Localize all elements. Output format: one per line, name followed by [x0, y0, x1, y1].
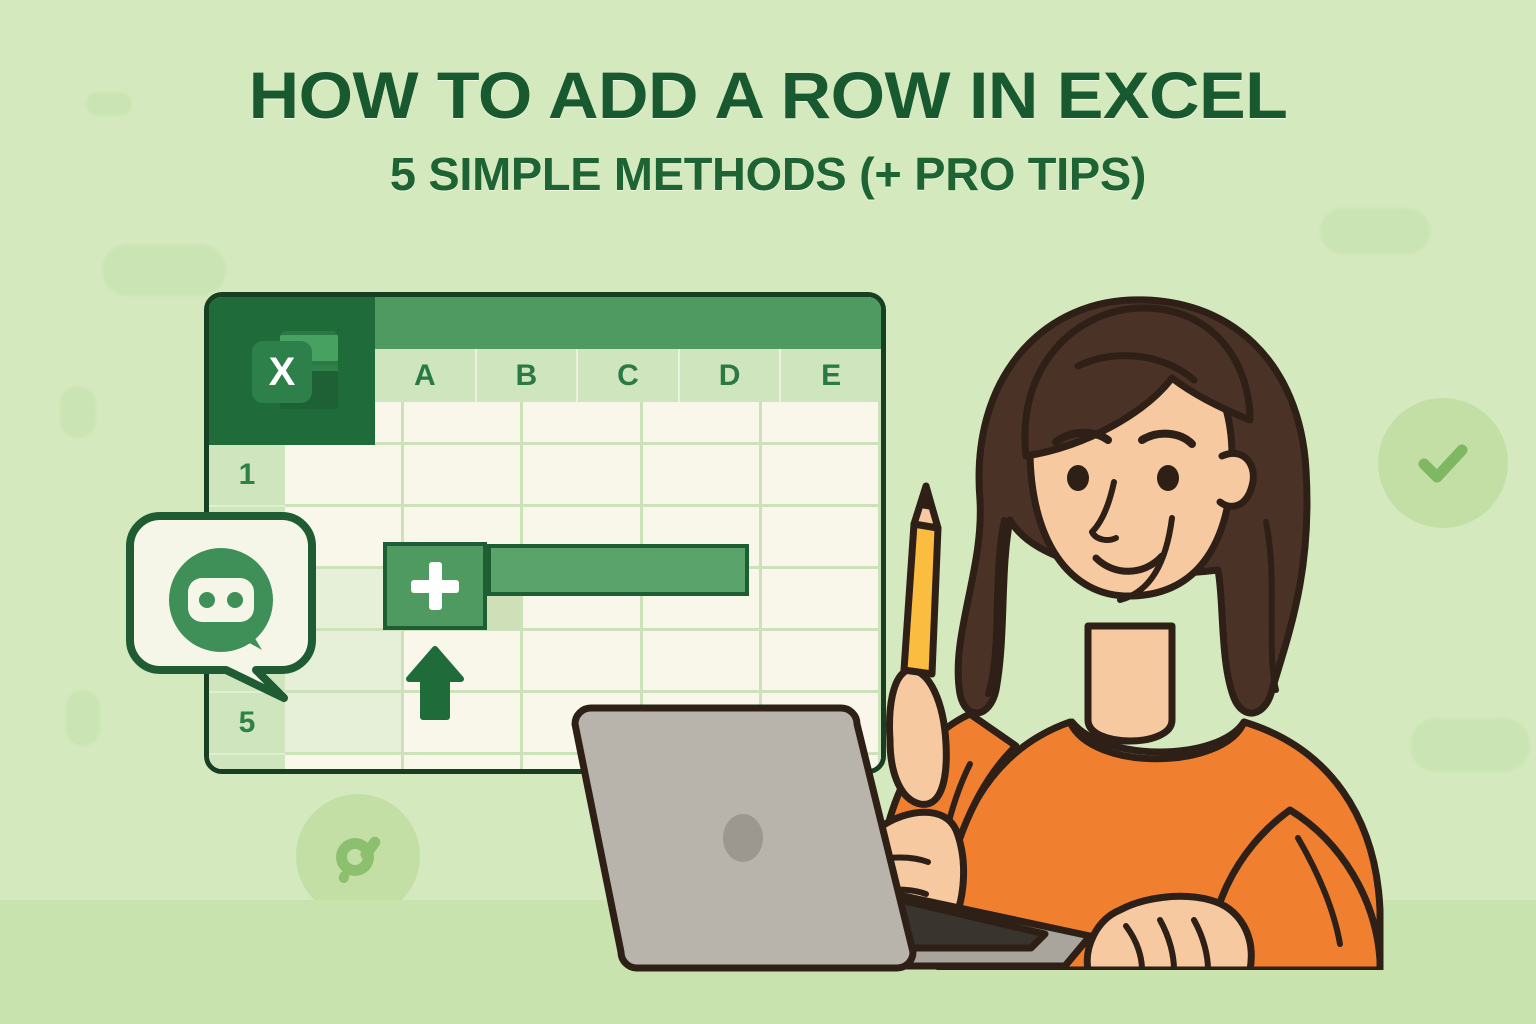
- grid-cell[interactable]: [404, 402, 523, 445]
- column-header-b[interactable]: B: [477, 349, 579, 402]
- column-header-row: A B C D E: [375, 349, 881, 402]
- column-header-d[interactable]: D: [680, 349, 782, 402]
- excel-logo: X: [244, 325, 340, 417]
- gear-icon: [319, 817, 397, 895]
- bg-blob: [102, 244, 226, 296]
- grid-cell[interactable]: [285, 445, 404, 507]
- grid-cell[interactable]: [285, 755, 404, 774]
- column-header-c[interactable]: C: [578, 349, 680, 402]
- grid-cell[interactable]: [523, 631, 642, 693]
- grid-cell[interactable]: [523, 402, 642, 445]
- grid-row: [285, 631, 881, 693]
- page-subtitle: 5 SIMPLE METHODS (+ PRO TIPS): [0, 147, 1536, 201]
- laptop-illustration[interactable]: [545, 690, 1105, 990]
- bg-blob: [1320, 208, 1430, 254]
- grid-cell[interactable]: [523, 445, 642, 507]
- robot-icon: [169, 548, 273, 652]
- grid-cell[interactable]: [643, 402, 762, 445]
- grid-row: [285, 445, 881, 507]
- bg-blob: [66, 690, 100, 746]
- poster-canvas: HOW TO ADD A ROW IN EXCEL 5 SIMPLE METHO…: [0, 0, 1536, 1024]
- excel-logo-letter: X: [252, 341, 312, 403]
- row-header-1[interactable]: 1: [209, 445, 285, 507]
- grid-cell[interactable]: [404, 445, 523, 507]
- grid-cell[interactable]: [643, 631, 762, 693]
- poster-heading-group: HOW TO ADD A ROW IN EXCEL 5 SIMPLE METHO…: [0, 62, 1536, 201]
- arrow-up-icon: [405, 645, 465, 721]
- column-header-a[interactable]: A: [375, 349, 477, 402]
- inserted-row-highlight: [487, 544, 749, 596]
- grid-cell[interactable]: [404, 755, 523, 774]
- ai-assistant-bubble[interactable]: [126, 512, 316, 704]
- grid-cell[interactable]: [643, 445, 762, 507]
- laptop-lid-logo: [723, 814, 763, 862]
- add-row-plus-button[interactable]: [383, 542, 487, 630]
- sheet-corner-logo-area: X: [209, 297, 375, 445]
- page-title: HOW TO ADD A ROW IN EXCEL: [0, 62, 1536, 129]
- plus-icon-vertical: [429, 562, 442, 610]
- bg-blob: [60, 386, 96, 438]
